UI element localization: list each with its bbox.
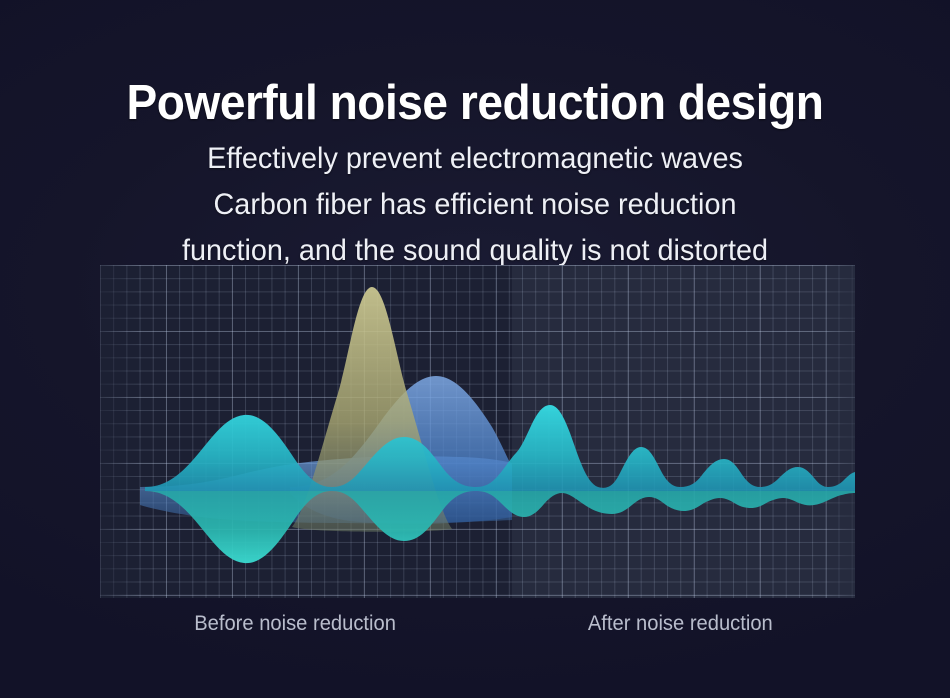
page-subtitle: Effectively prevent electromagnetic wave… (19, 136, 931, 274)
page-root: Powerful noise reduction design Effectiv… (0, 0, 950, 698)
caption-after-noise-reduction: After noise reduction (588, 612, 773, 636)
chart-captions: Before noise reduction After noise reduc… (0, 612, 950, 646)
subtitle-line-2: Carbon fiber has efficient noise reducti… (19, 182, 931, 228)
waveform-graphic (100, 265, 855, 598)
wave-cyan-lower (145, 491, 855, 563)
caption-before-noise-reduction: Before noise reduction (194, 612, 396, 636)
subtitle-line-1: Effectively prevent electromagnetic wave… (19, 136, 931, 182)
page-title: Powerful noise reduction design (29, 75, 922, 131)
waveform-chart-panel (100, 265, 855, 598)
